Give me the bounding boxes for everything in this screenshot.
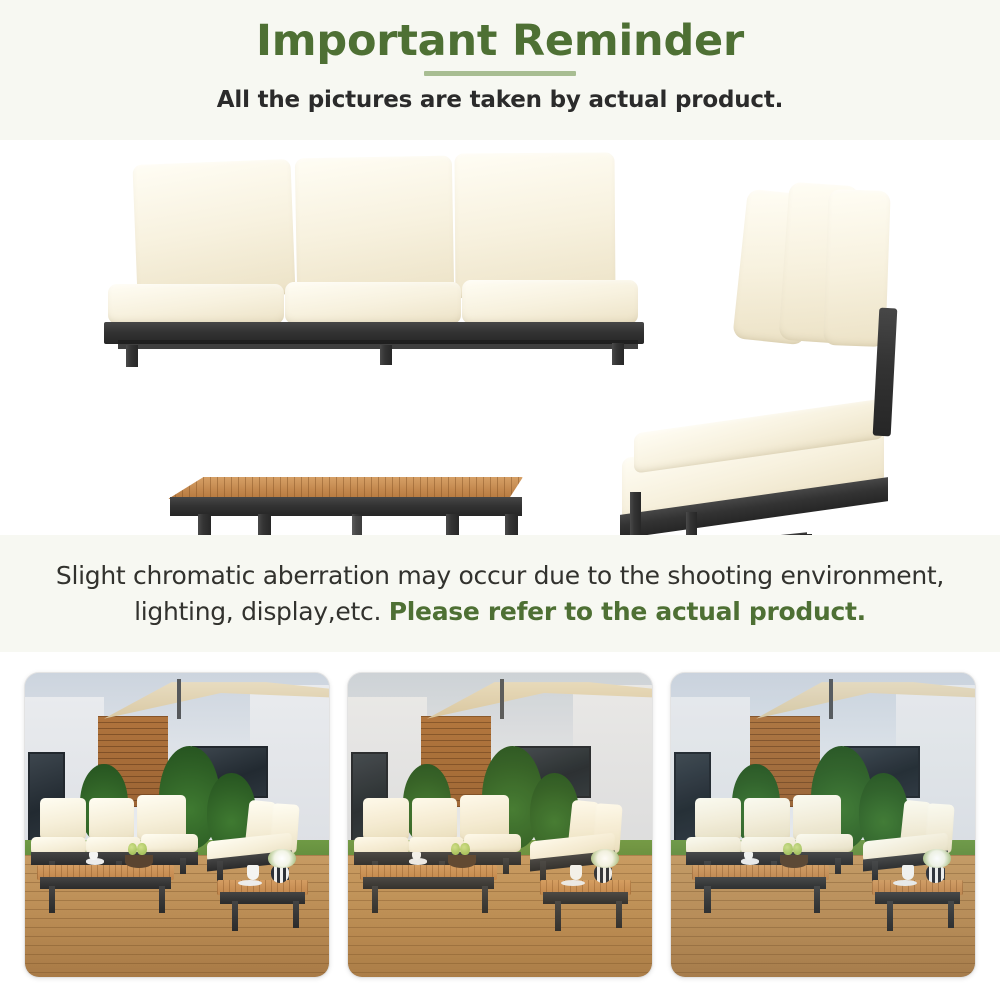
thumb-side-table-leg xyxy=(293,901,299,928)
infographic-page: Important Reminder All the pictures are … xyxy=(0,0,1000,1000)
sofa-leg xyxy=(612,343,624,365)
color-tint-overlay xyxy=(671,673,975,977)
chaise-leg xyxy=(630,492,641,535)
sofa-back-cushion xyxy=(295,156,454,299)
thumb-sofa-leg xyxy=(180,858,186,873)
coffee-table-leg xyxy=(505,514,518,535)
thumb-coffee-table-leg xyxy=(159,886,165,913)
sofa-seat-cushion xyxy=(462,280,638,324)
coffee-table-leg xyxy=(198,514,211,535)
fruit-bowl xyxy=(125,855,152,867)
sofa-seat-cushion xyxy=(108,284,284,324)
thumb-coffee-table-frame xyxy=(40,877,171,889)
fruit xyxy=(137,843,146,855)
thumbnail-strip xyxy=(0,652,1000,1000)
hero-photo-band xyxy=(0,140,1000,535)
disclaimer-line-2-plain: lighting, display,etc. xyxy=(134,597,381,626)
disclaimer-emphasis: Please refer to the actual product. xyxy=(389,597,866,626)
sofa-base-frame-shadow xyxy=(118,340,638,349)
chaise-leg xyxy=(686,512,697,535)
umbrella-pole xyxy=(177,679,181,719)
thumb-side-table-leg xyxy=(232,901,238,931)
thumb-sofa-back-cushion xyxy=(40,798,86,841)
color-tint-overlay xyxy=(348,673,652,977)
disclaimer-line-1: Slight chromatic aberration may occur du… xyxy=(56,561,944,590)
sofa-leg xyxy=(126,345,138,367)
sofa-leg xyxy=(380,345,392,365)
patio-scene xyxy=(348,673,652,977)
sofa-back-cushion xyxy=(454,152,615,298)
sofa-seat-cushion xyxy=(285,282,461,324)
coffee-table-leg xyxy=(258,514,271,535)
thumbnail-image-3[interactable] xyxy=(670,672,976,978)
coffee-table-cross-strut xyxy=(352,514,362,535)
hero-product-image xyxy=(0,140,1000,535)
saucer xyxy=(238,880,262,886)
tumbler xyxy=(247,865,259,880)
thumb-sofa-back-cushion xyxy=(89,798,135,841)
coffee-table-leg xyxy=(446,514,459,535)
patio-scene xyxy=(671,673,975,977)
title-divider xyxy=(424,71,576,76)
header-band: Important Reminder All the pictures are … xyxy=(0,0,1000,140)
thumbnail-image-1[interactable] xyxy=(24,672,330,978)
thumb-coffee-table-leg xyxy=(49,886,55,913)
sofa-back-cushion xyxy=(132,159,295,300)
coffee-table-frame xyxy=(170,497,522,516)
thumb-sofa-seat-cushion xyxy=(141,834,199,852)
thumb-sofa-frame xyxy=(31,852,198,864)
thumbnail-image-2[interactable] xyxy=(347,672,653,978)
disclaimer-text: Slight chromatic aberration may occur du… xyxy=(40,558,960,629)
disclaimer-band: Slight chromatic aberration may occur du… xyxy=(0,535,1000,652)
patio-scene xyxy=(25,673,329,977)
header-subtitle: All the pictures are taken by actual pro… xyxy=(0,87,1000,113)
page-title: Important Reminder xyxy=(0,17,1000,65)
flower-bouquet xyxy=(268,849,295,867)
